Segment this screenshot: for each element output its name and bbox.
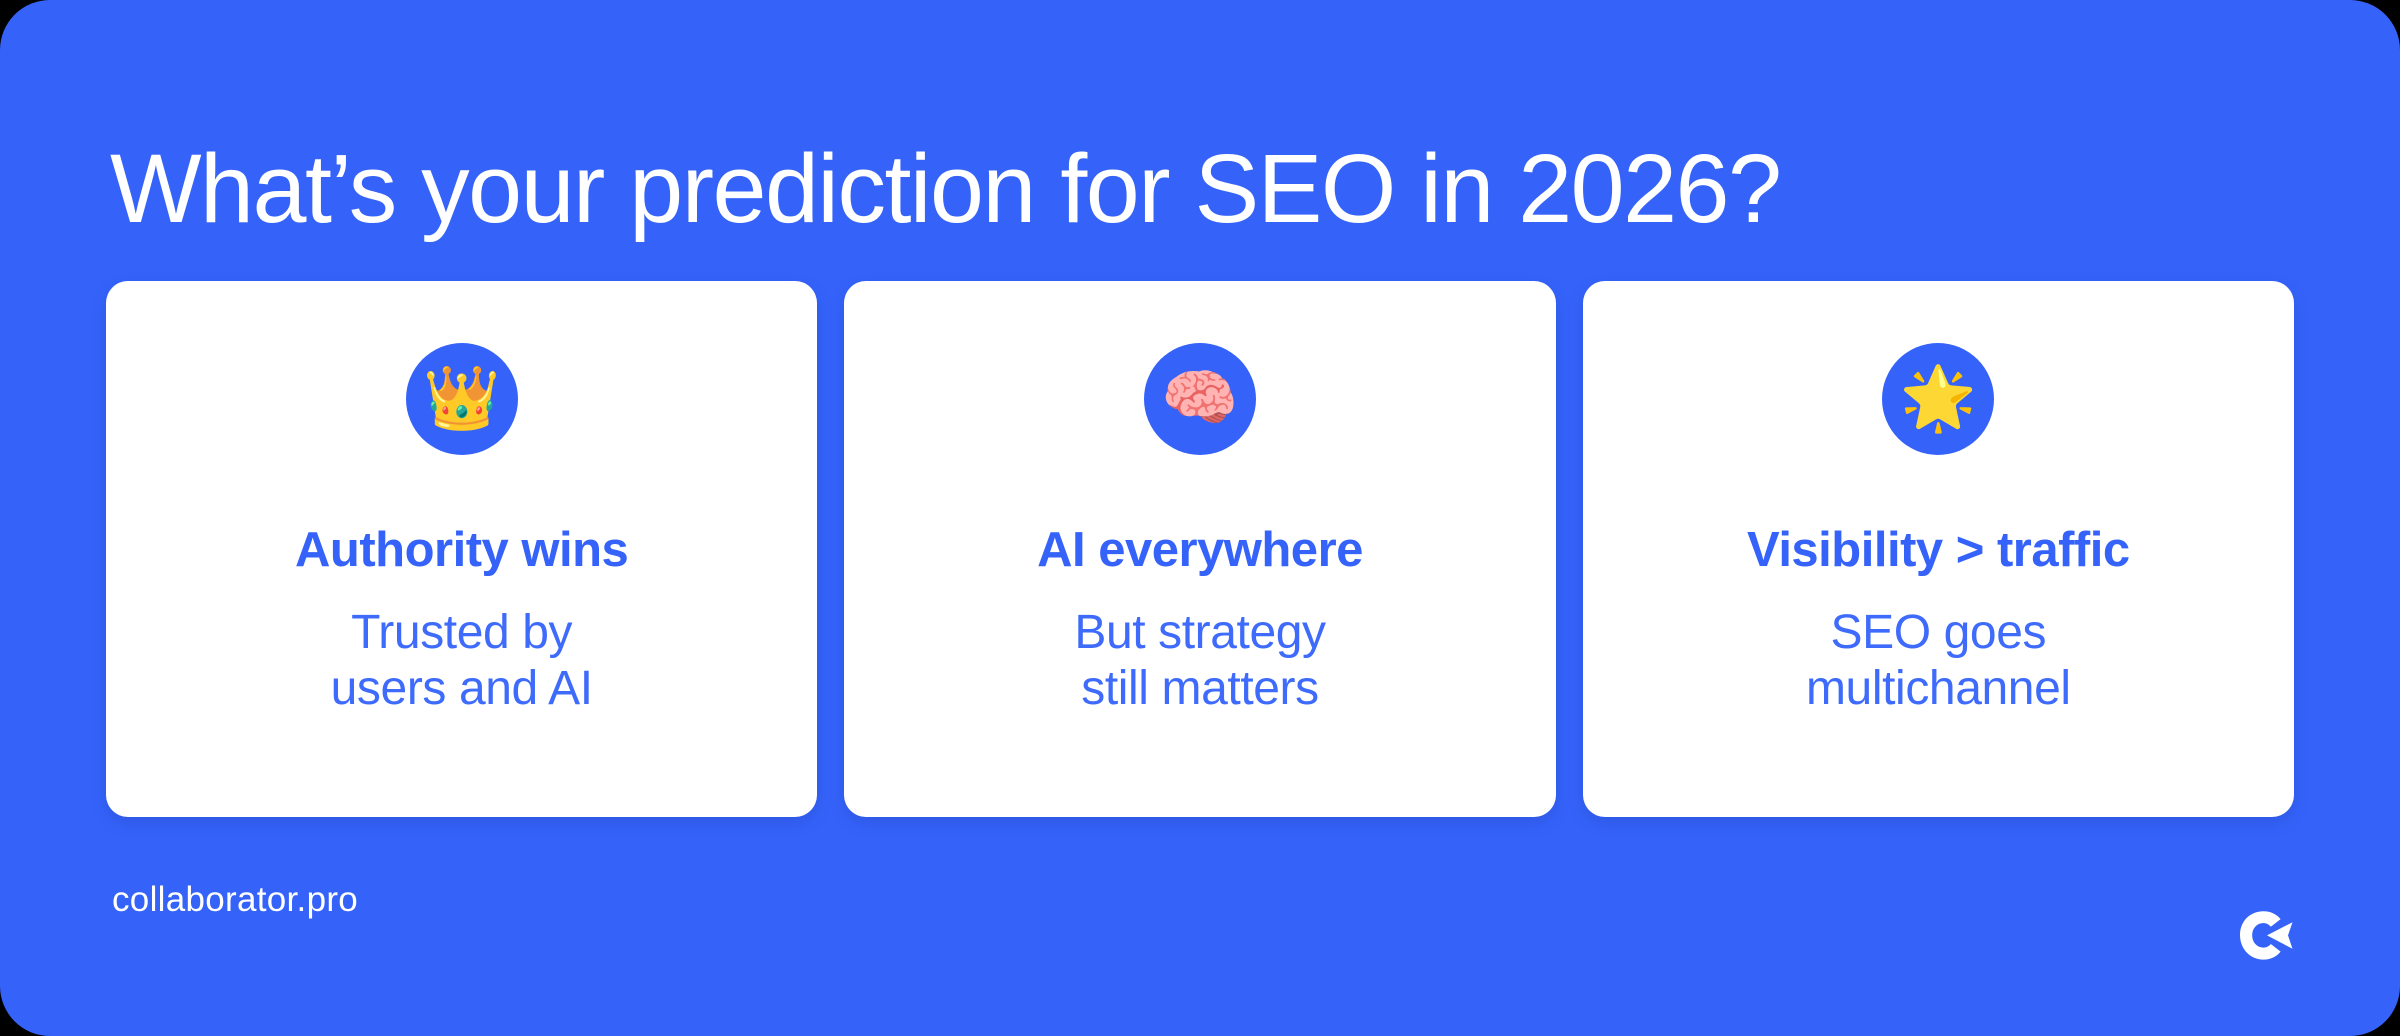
prediction-card-row: 👑 Authority wins Trusted byusers and AI … (106, 281, 2294, 817)
card-heading: AI everywhere (1037, 524, 1363, 578)
brain-icon: 🧠 (1161, 368, 1238, 430)
card-body-text: Trusted byusers and AI (331, 605, 593, 716)
card-icon-badge: 🧠 (1144, 343, 1256, 455)
card-icon-badge: 🌟 (1882, 343, 1994, 455)
prediction-card-ai[interactable]: 🧠 AI everywhere But strategystill matter… (844, 281, 1555, 817)
collaborator-logo-icon (2234, 908, 2296, 964)
card-body-text: But strategystill matters (1074, 605, 1325, 716)
brand-url: collaborator.pro (112, 880, 358, 920)
prediction-card-visibility[interactable]: 🌟 Visibility > traffic SEO goesmultichan… (1583, 281, 2294, 817)
crown-icon: 👑 (423, 368, 500, 430)
card-icon-badge: 👑 (406, 343, 518, 455)
poster-canvas: What’s your prediction for SEO in 2026? … (0, 0, 2400, 1036)
card-body-text: SEO goesmultichannel (1806, 605, 2071, 716)
card-heading: Visibility > traffic (1747, 524, 2130, 578)
glowing-star-icon: 🌟 (1900, 368, 1977, 430)
prediction-card-authority[interactable]: 👑 Authority wins Trusted byusers and AI (106, 281, 817, 817)
page-title: What’s your prediction for SEO in 2026? (110, 138, 2310, 241)
card-heading: Authority wins (295, 524, 628, 578)
